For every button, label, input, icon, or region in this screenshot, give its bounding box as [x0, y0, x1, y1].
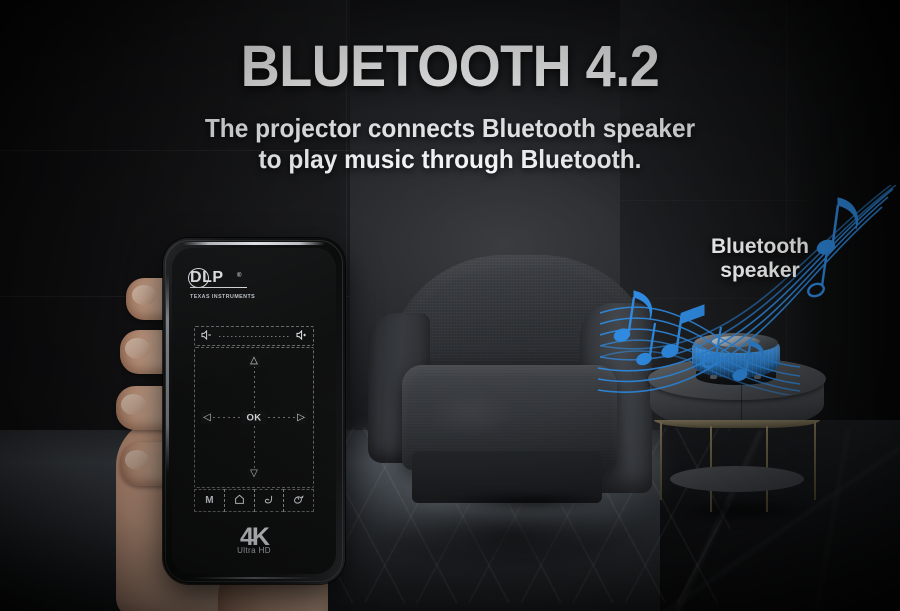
dlp-logo-oval: [188, 268, 209, 288]
home-button[interactable]: [224, 489, 255, 512]
speaker-plus-icon[interactable]: [296, 330, 307, 343]
speaker-callout-line-1: Bluetooth: [690, 235, 830, 259]
device-edge-highlight: [166, 274, 169, 474]
speaker-callout-line-2: speaker: [690, 259, 830, 283]
dpad-right-button[interactable]: ▷: [295, 412, 307, 424]
menu-button[interactable]: M: [194, 489, 225, 512]
mouse-button[interactable]: [283, 489, 314, 512]
finger-nail: [125, 338, 150, 359]
page-title: BLUETOOTH 4.2: [32, 36, 869, 98]
subtitle-line-1: The projector connects Bluetooth speaker: [27, 113, 873, 144]
dlp-logo-underline: [190, 287, 247, 288]
finger-nail: [121, 394, 146, 415]
speaker-callout-label: Bluetooth speaker: [690, 235, 830, 283]
table-leg: [660, 422, 662, 500]
dlp-projector-device: DLP ® TEXAS INSTRUMENTS: [163, 238, 345, 584]
table-lower-shelf: [670, 466, 804, 492]
dlp-logo: DLP ® TEXAS INSTRUMENTS: [190, 270, 276, 300]
back-button[interactable]: [254, 489, 285, 512]
resolution-sub-label: Ultra HD: [237, 546, 271, 555]
back-arrow-icon: [263, 492, 274, 510]
device-bottom-highlight: [193, 577, 315, 579]
function-button-row: M: [194, 489, 314, 512]
music-note: [612, 291, 651, 343]
music-wave-left: [600, 275, 800, 395]
registered-trademark-icon: ®: [237, 268, 242, 284]
dpad-up-button[interactable]: △: [248, 355, 260, 367]
table-leg: [814, 422, 816, 500]
finger-nail: [132, 285, 156, 305]
dlp-logo-subtext: TEXAS INSTRUMENTS: [190, 289, 255, 305]
menu-button-label: M: [205, 496, 213, 506]
subtitle-line-2: to play music through Bluetooth.: [27, 144, 873, 175]
resolution-badge: 4K Ultra HD: [237, 526, 271, 555]
promo-scene: DLP ® TEXAS INSTRUMENTS: [0, 0, 900, 611]
device-top-highlight: [183, 242, 325, 245]
volume-row[interactable]: [194, 326, 314, 346]
device-touch-panel[interactable]: DLP ® TEXAS INSTRUMENTS: [172, 248, 336, 574]
home-icon: [234, 492, 245, 510]
page-subtitle: The projector connects Bluetooth speaker…: [27, 113, 873, 175]
dlp-logo-wordmark: DLP ® TEXAS INSTRUMENTS: [190, 270, 276, 286]
dpad-down-button[interactable]: ▽: [248, 468, 260, 480]
dpad[interactable]: △ ▽ ◁ ▷ OK: [194, 347, 314, 488]
dpad-left-button[interactable]: ◁: [201, 412, 213, 424]
remote-control-pad: △ ▽ ◁ ▷ OK M: [194, 326, 314, 512]
armchair-contact-shadow: [408, 487, 648, 517]
speaker-minus-icon[interactable]: [201, 330, 212, 343]
finger-nail: [125, 450, 149, 470]
table-brass-trim: [654, 420, 820, 428]
volume-track[interactable]: [219, 336, 289, 337]
dpad-ok-button[interactable]: OK: [241, 411, 266, 424]
mouse-pointer-icon: [293, 492, 305, 510]
